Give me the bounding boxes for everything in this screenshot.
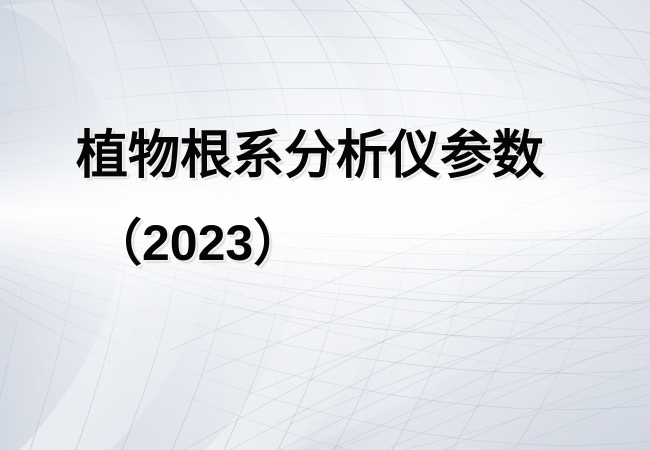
slide-canvas: 植物根系分析仪参数 （2023）: [0, 0, 650, 450]
title-block: 植物根系分析仪参数 （2023）: [0, 0, 650, 450]
slide-title: 植物根系分析仪参数: [76, 126, 544, 186]
slide-subtitle-year: （2023）: [92, 214, 303, 272]
